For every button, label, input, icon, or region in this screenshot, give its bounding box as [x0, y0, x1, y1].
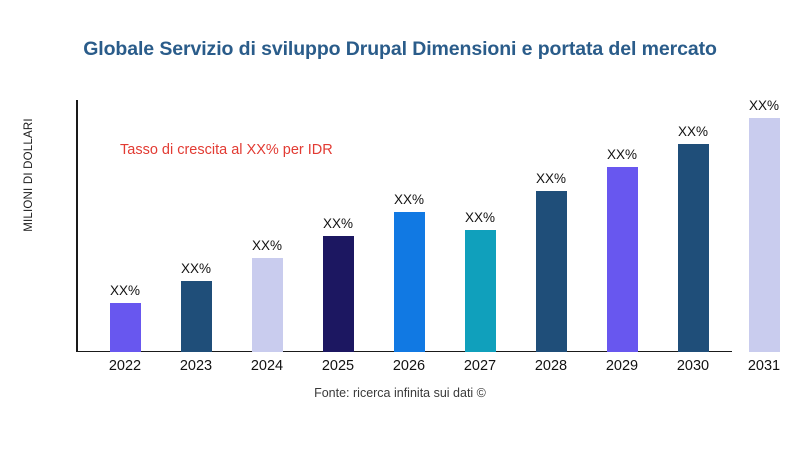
x-tick-label-2022: 2022	[109, 358, 141, 374]
x-tick-label-2028: 2028	[535, 358, 567, 374]
bar-2030[interactable]: XX%	[678, 144, 709, 352]
bar-value-label-2025: XX%	[323, 216, 353, 231]
x-tick-label-2027: 2027	[464, 358, 496, 374]
plot-area: Tasso di crescita al XX% per IDR XX%XX%X…	[76, 100, 732, 352]
x-tick-label-2029: 2029	[606, 358, 638, 374]
y-axis-line	[76, 100, 78, 352]
x-tick-label-2026: 2026	[393, 358, 425, 374]
bar-value-label-2030: XX%	[678, 124, 708, 139]
bar-2026[interactable]: XX%	[394, 212, 425, 352]
bar-2029[interactable]: XX%	[607, 167, 638, 352]
bar-2023[interactable]: XX%	[181, 281, 212, 352]
bar-2027[interactable]: XX%	[465, 230, 496, 352]
growth-rate-annotation: Tasso di crescita al XX% per IDR	[120, 142, 333, 158]
page-title: Globale Servizio di sviluppo Drupal Dime…	[0, 38, 800, 61]
x-tick-label-2023: 2023	[180, 358, 212, 374]
bar-value-label-2024: XX%	[252, 238, 282, 253]
bar-value-label-2028: XX%	[536, 171, 566, 186]
bar-2028[interactable]: XX%	[536, 191, 567, 352]
x-tick-label-2030: 2030	[677, 358, 709, 374]
bar-value-label-2022: XX%	[110, 283, 140, 298]
source-note: Fonte: ricerca infinita sui dati ©	[0, 386, 800, 400]
x-tick-label-2025: 2025	[322, 358, 354, 374]
bar-2025[interactable]: XX%	[323, 236, 354, 352]
bar-2022[interactable]: XX%	[110, 303, 141, 352]
x-tick-label-2024: 2024	[251, 358, 283, 374]
bar-value-label-2027: XX%	[465, 210, 495, 225]
bar-2031[interactable]: XX%	[749, 118, 780, 352]
y-axis-title-text: MILIONI DI DOLLARI	[23, 118, 35, 232]
bar-value-label-2031: XX%	[749, 98, 779, 113]
chart-page: Globale Servizio di sviluppo Drupal Dime…	[0, 0, 800, 450]
x-tick-label-2031: 2031	[748, 358, 780, 374]
bar-value-label-2029: XX%	[607, 147, 637, 162]
y-axis-title: MILIONI DI DOLLARI	[18, 60, 40, 290]
bar-2024[interactable]: XX%	[252, 258, 283, 352]
bar-value-label-2023: XX%	[181, 261, 211, 276]
bar-value-label-2026: XX%	[394, 192, 424, 207]
